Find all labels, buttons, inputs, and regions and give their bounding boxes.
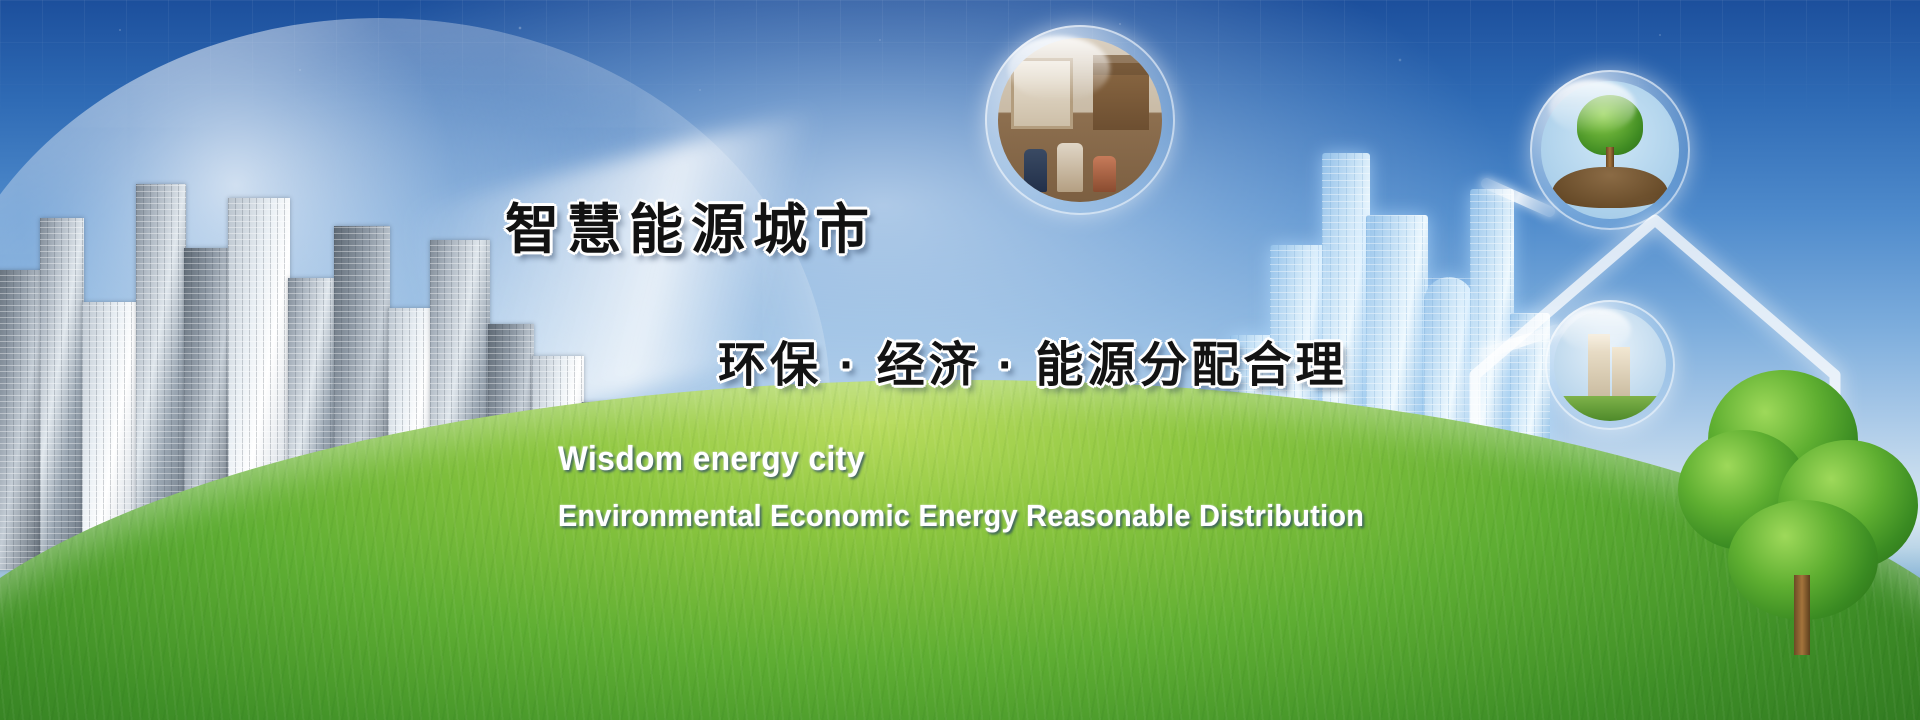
tagline-english-secondary: Environmental Economic Energy Reasonable… xyxy=(558,498,1364,534)
banner-canvas: 智慧能源城市 环保 · 经济 · 能源分配合理 Wisdom energy ci… xyxy=(0,0,1920,720)
banner-text-block: 智慧能源城市 环保 · 经济 · 能源分配合理 Wisdom energy ci… xyxy=(0,0,1920,720)
tagline-english-primary: Wisdom energy city xyxy=(558,440,865,479)
headline-chinese: 智慧能源城市 xyxy=(505,185,877,264)
subheadline-chinese: 环保 · 经济 · 能源分配合理 xyxy=(718,325,1347,395)
